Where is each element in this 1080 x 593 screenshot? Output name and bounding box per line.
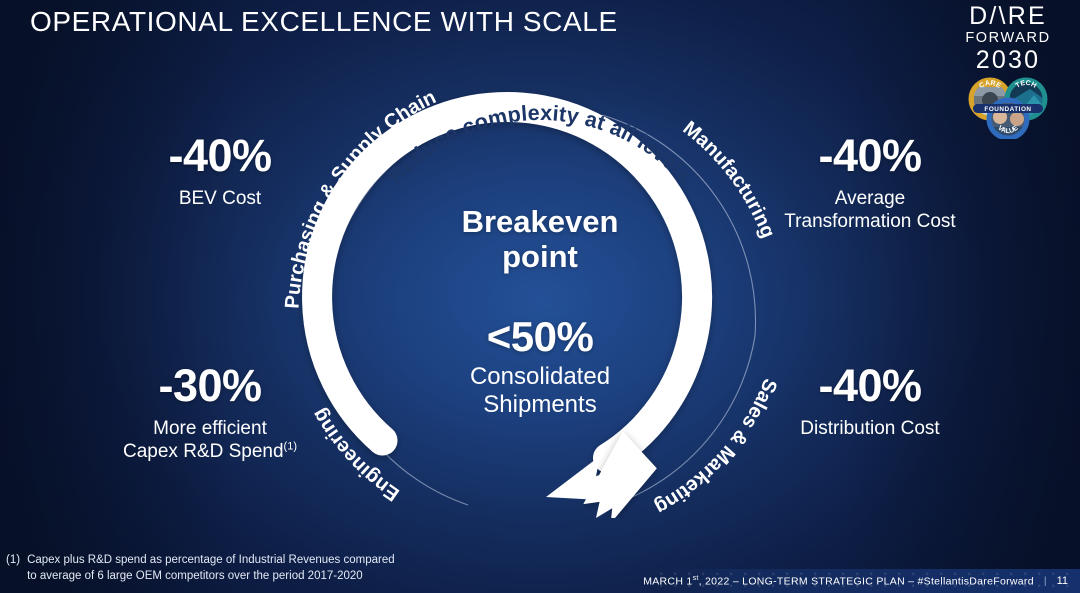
footer-date-suffix: , 2022 – LONG-TERM STRATEGIC PLAN – #Ste…: [699, 575, 1034, 587]
metric-capex-label-text: More efficient Capex R&D Spend: [123, 418, 284, 462]
metric-bev-cost: -40% BEV Cost: [90, 133, 350, 210]
logo-forward-text: FORWARD: [952, 31, 1064, 46]
footer-separator: |: [1044, 575, 1047, 587]
metric-capex-value: -30%: [80, 363, 340, 408]
metric-distribution-cost: -40% Distribution Cost: [740, 363, 1000, 440]
metric-capex-footnote-marker: (1): [284, 441, 297, 453]
logo-dare-text: D/\RE: [952, 4, 1064, 29]
metric-capex-label: More efficient Capex R&D Spend(1): [80, 417, 340, 463]
metric-distribution-value: -40%: [740, 363, 1000, 408]
footnote-text: Capex plus R&D spend as percentage of In…: [27, 552, 395, 585]
logo-badge-cluster: FOUNDATION CARE TECH VALUE: [960, 77, 1056, 139]
dare-forward-logo: D/\RE FORWARD 2030: [952, 4, 1064, 139]
logo-year-text: 2030: [952, 48, 1064, 73]
metric-bev-label: BEV Cost: [90, 187, 350, 210]
metric-bev-value: -40%: [90, 133, 350, 178]
breakeven-value: <50%: [410, 316, 670, 358]
metric-capex-rd-spend: -30% More efficient Capex R&D Spend(1): [80, 363, 340, 463]
metric-distribution-label: Distribution Cost: [740, 417, 1000, 440]
badge-foundation-band: FOUNDATION: [973, 104, 1043, 113]
metric-transformation-cost: -40% Average Transformation Cost: [740, 133, 1000, 233]
footnote-marker: (1): [6, 552, 20, 585]
metric-transformation-label: Average Transformation Cost: [740, 187, 1000, 233]
footer-caption: MARCH 1st, 2022 – LONG-TERM STRATEGIC PL…: [643, 575, 1034, 588]
breakeven-sublabel: Consolidated Shipments: [410, 363, 670, 419]
footnote: (1) Capex plus R&D spend as percentage o…: [6, 552, 395, 585]
badge-cluster-svg: FOUNDATION CARE TECH VALUE: [960, 77, 1056, 139]
footer-page-number: 11: [1057, 575, 1068, 587]
center-content: Breakeven point <50% Consolidated Shipme…: [410, 205, 670, 419]
metric-transformation-value: -40%: [740, 133, 1000, 178]
breakeven-heading: Breakeven point: [410, 205, 670, 274]
slide-root: OPERATIONAL EXCELLENCE WITH SCALE D/\RE …: [0, 0, 1080, 593]
page-title: OPERATIONAL EXCELLENCE WITH SCALE: [30, 6, 618, 38]
footer-date-prefix: MARCH 1: [643, 575, 692, 587]
footer-bar: MARCH 1st, 2022 – LONG-TERM STRATEGIC PL…: [660, 569, 1080, 593]
badge-foundation-label: FOUNDATION: [984, 106, 1031, 113]
